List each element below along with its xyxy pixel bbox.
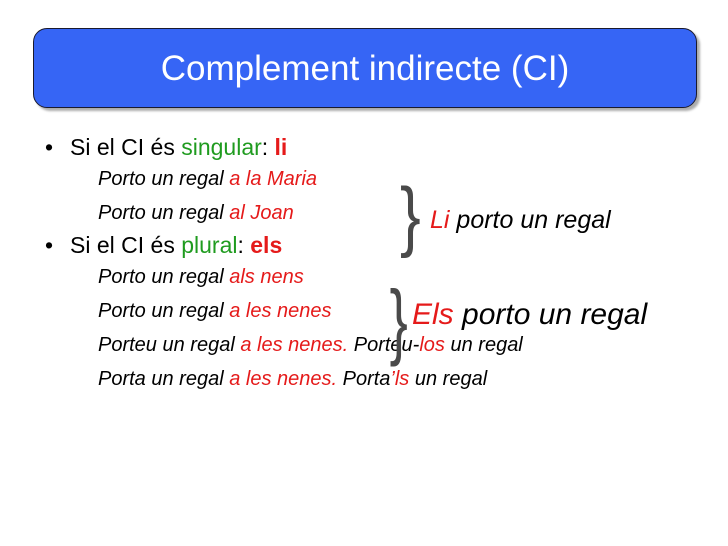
example-line-enclitic: Porteu un regal a les nenes. Porteu-los … <box>0 328 728 362</box>
bullet-glyph-icon: • <box>45 132 53 162</box>
curly-brace-icon: } <box>390 278 408 362</box>
example-red-text: a les nenes <box>229 300 331 322</box>
bullet-separator: : <box>237 232 250 258</box>
result-phrase-plural: Els porto un regal <box>412 300 647 330</box>
example-red-text: a la Maria <box>229 168 317 190</box>
example-black-text: Porteu- <box>348 334 419 356</box>
example-line: Porto un regal al Joan <box>0 196 728 230</box>
example-black-text: Porto un regal <box>98 300 229 322</box>
slide-title-box: Complement indirecte (CI) <box>33 28 697 108</box>
example-line: Porto un regal a la Maria <box>0 162 728 196</box>
keyword-plural: plural <box>181 232 237 258</box>
bullet-item-singular: •Si el CI és singular: li <box>0 132 728 162</box>
result-phrase-singular: Li porto un regal <box>430 208 611 233</box>
example-black-text: Porta un regal <box>98 368 229 390</box>
example-red-text: a les nenes. <box>229 368 337 390</box>
example-black-text: un regal <box>445 334 523 356</box>
example-black-text: Porto un regal <box>98 202 229 224</box>
result-rest-text: porto un regal <box>449 206 610 234</box>
enclitic-pronoun-ls: ’ls <box>390 368 409 390</box>
result-pronoun-li: Li <box>430 206 449 234</box>
bullet-item-plural: •Si el CI és plural: els <box>0 230 728 260</box>
keyword-singular: singular <box>181 134 262 160</box>
example-line: Porto un regal als nens <box>0 260 728 294</box>
slide-body: •Si el CI és singular: li Porto un regal… <box>0 132 728 396</box>
example-black-text: un regal <box>409 368 487 390</box>
example-red-text: al Joan <box>229 202 294 224</box>
bullet-separator: : <box>262 134 275 160</box>
bullet-lead-text: Si el CI és <box>70 134 181 160</box>
result-pronoun-els: Els <box>412 298 454 331</box>
slide-canvas: { "slide": { "title": "Complement indire… <box>0 0 728 546</box>
example-black-text: Porto un regal <box>98 168 229 190</box>
pronoun-li: li <box>275 134 288 160</box>
pronoun-els: els <box>250 232 282 258</box>
bullet-glyph-icon: • <box>45 230 53 260</box>
example-black-text: Porta <box>337 368 390 390</box>
curly-brace-icon: } <box>400 178 421 256</box>
bullet-lead-text: Si el CI és <box>70 232 181 258</box>
example-red-text: als nens <box>229 266 304 288</box>
enclitic-pronoun-los: los <box>419 334 445 356</box>
example-line-enclitic: Porta un regal a les nenes. Porta’ls un … <box>0 362 728 396</box>
example-black-text: Porteu un regal <box>98 334 240 356</box>
result-rest-text: porto un regal <box>454 298 647 331</box>
example-black-text: Porto un regal <box>98 266 229 288</box>
page-title: Complement indirecte (CI) <box>161 51 569 86</box>
example-red-text: a les nenes. <box>240 334 348 356</box>
